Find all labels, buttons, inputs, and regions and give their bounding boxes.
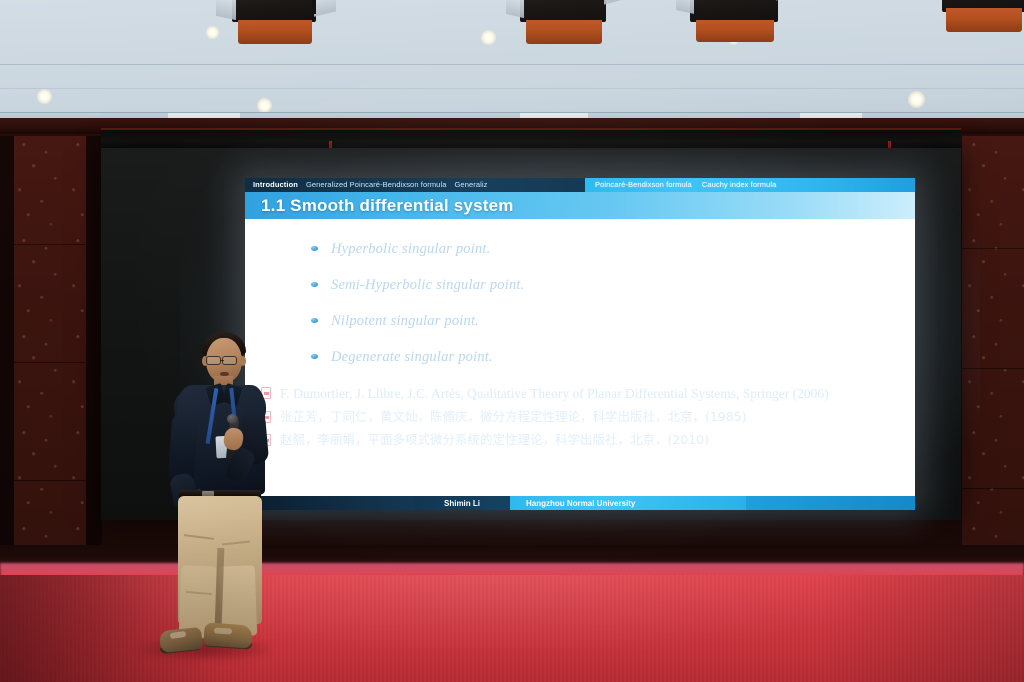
projected-slide: Introduction Generalized Poincaré-Bendix… <box>245 178 915 510</box>
stage-spotlight <box>506 0 622 44</box>
stage-spotlight <box>216 0 334 46</box>
reference-list: F. Dumortier, J. Llibre, J.C. Artés, Qua… <box>259 385 901 448</box>
shoe-right <box>203 622 252 648</box>
list-item: Semi-Hyperbolic singular point. <box>311 277 901 294</box>
bullet-label: Semi-Hyperbolic singular point. <box>331 277 524 294</box>
glasses-lens-left <box>206 356 221 365</box>
bullet-dot-icon <box>311 354 318 359</box>
shoe-laces-right <box>214 628 232 635</box>
downlight-icon <box>481 30 496 45</box>
wall-recess-left-inner <box>86 136 102 556</box>
glasses-lens-right <box>222 356 237 365</box>
footline-author: Shimin Li <box>414 496 510 510</box>
downlight-icon <box>908 91 925 108</box>
nav-item-generaliz[interactable]: Generaliz <box>455 181 488 189</box>
list-item: Nilpotent singular point. <box>311 313 901 330</box>
slide-footline: Shimin Li Hangzhou Normal University <box>245 496 915 510</box>
footline-institution: Hangzhou Normal University <box>510 496 746 510</box>
reference-text: F. Dumortier, J. Llibre, J.C. Artés, Qua… <box>280 385 829 402</box>
glasses-bridge <box>220 360 224 361</box>
nav-item-generalized-pb-formula[interactable]: Generalized Poincaré-Bendixson formula <box>306 181 447 189</box>
nav-item-introduction[interactable]: Introduction <box>253 181 298 189</box>
bullet-label: Degenerate singular point. <box>331 349 493 366</box>
slide-title-bar: 1.1 Smooth differential system <box>245 192 915 219</box>
singular-point-list: Hyperbolic singular point. Semi-Hyperbol… <box>259 241 901 366</box>
bullet-dot-icon <box>311 282 318 287</box>
speaker <box>150 330 285 670</box>
wall-recess-left <box>0 136 14 556</box>
footline-tail <box>746 496 915 510</box>
bullet-dot-icon <box>311 318 318 323</box>
nav-sections-right: Poincaré-Bendixson formula Cauchy index … <box>585 178 915 192</box>
bullet-label: Nilpotent singular point. <box>331 313 479 330</box>
list-item: F. Dumortier, J. Llibre, J.C. Artés, Qua… <box>261 385 901 402</box>
list-item: Hyperbolic singular point. <box>311 241 901 258</box>
slide-title: 1.1 Smooth differential system <box>245 196 514 216</box>
ear-right <box>240 356 246 366</box>
wall-panel-left <box>12 136 86 556</box>
wall-panel-right <box>962 136 1024 556</box>
bullet-label: Hyperbolic singular point. <box>331 241 490 258</box>
downlight-icon <box>257 98 272 113</box>
stage-spotlight <box>676 0 794 42</box>
list-item: Degenerate singular point. <box>311 349 901 366</box>
reference-text: 赵熙，李丽娟，平面多项式微分系统的定性理论，科学出版社，北京，(2010) <box>280 432 709 448</box>
lecture-hall-photo: Introduction Generalized Poincaré-Bendix… <box>0 0 1024 682</box>
nav-sections-left: Introduction Generalized Poincaré-Bendix… <box>245 181 488 189</box>
downlight-icon <box>37 89 52 104</box>
bullet-dot-icon <box>311 246 318 251</box>
list-item: 赵熙，李丽娟，平面多项式微分系统的定性理论，科学出版社，北京，(2010) <box>261 432 901 448</box>
slide-navigation-bar: Introduction Generalized Poincaré-Bendix… <box>245 178 915 192</box>
screen-roller-housing <box>101 128 961 150</box>
stage-spotlight <box>930 0 1024 34</box>
reference-text: 张芷芳，丁同仁，黄文灿，陈翛庆，微分方程定性理论，科学出版社，北京，(1985) <box>280 409 747 425</box>
list-item: 张芷芳，丁同仁，黄文灿，陈翛庆，微分方程定性理论，科学出版社，北京，(1985) <box>261 409 901 425</box>
slide-content: Hyperbolic singular point. Semi-Hyperbol… <box>245 219 915 510</box>
nav-item-poincare-bendixson-formula[interactable]: Poincaré-Bendixson formula <box>595 181 692 189</box>
nav-item-cauchy-index-formula[interactable]: Cauchy index formula <box>702 181 777 189</box>
